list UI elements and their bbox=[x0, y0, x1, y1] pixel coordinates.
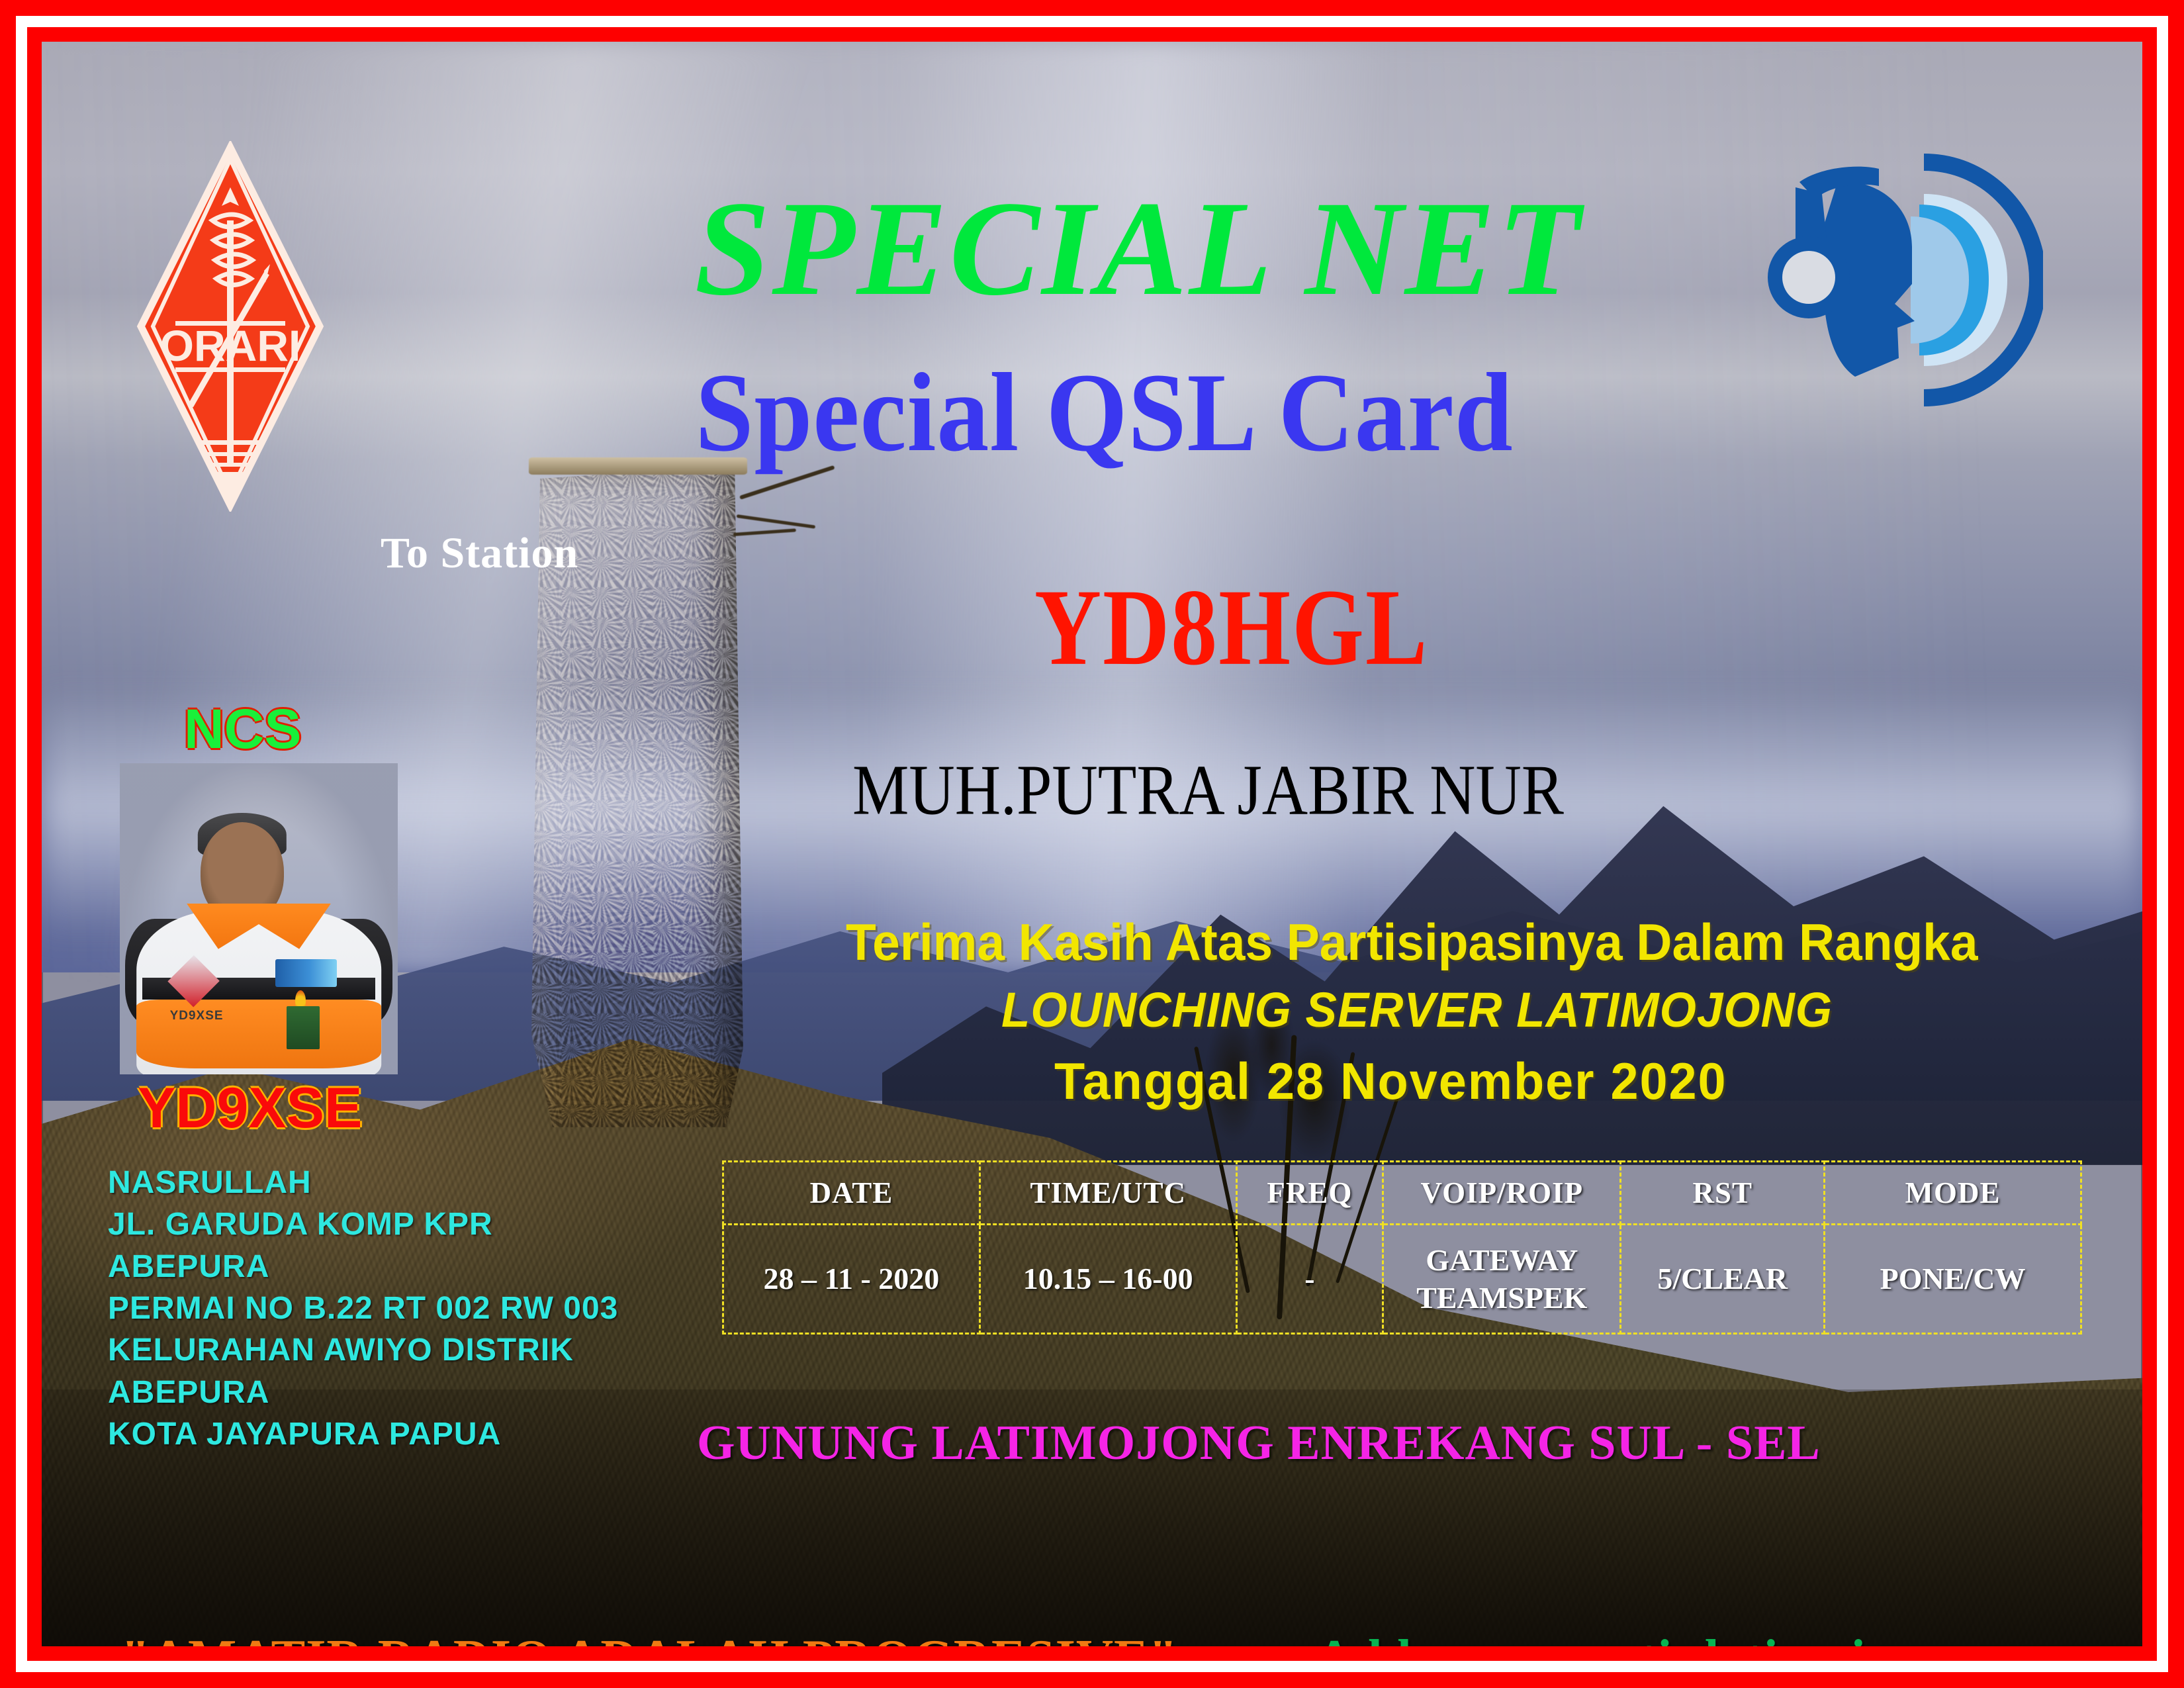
cell-time: 10.15 – 16-00 bbox=[979, 1225, 1236, 1334]
column-header-voip: VOIP/ROIP bbox=[1383, 1162, 1621, 1225]
column-header-mode: MODE bbox=[1825, 1162, 2081, 1225]
to-station-label: To Station bbox=[381, 528, 578, 579]
cell-freq: - bbox=[1236, 1225, 1383, 1334]
footer-motto: "AMATIR RADIO ADALAH PROGRESIVE" bbox=[121, 1629, 1178, 1646]
location-caption: GUNUNG LATIMOJONG ENREKANG SUL - SEL bbox=[697, 1415, 1821, 1472]
address-line: PERMAI NO B.22 RT 002 RW 003 bbox=[108, 1288, 618, 1329]
thanks-message: Terima Kasih Atas Partisipasinya Dalam R… bbox=[846, 912, 1978, 972]
page-title: SPECIAL NET bbox=[42, 181, 2142, 316]
address-line: NASRULLAH bbox=[108, 1162, 618, 1203]
ncs-operator-photo: YD9XSE bbox=[120, 763, 398, 1074]
cell-rst: 5/CLEAR bbox=[1621, 1225, 1825, 1334]
recipient-callsign: YD8HGL bbox=[1034, 565, 1428, 690]
operator-name: MUH.PUTRA JABIR NUR bbox=[852, 749, 1564, 831]
qsl-card-outer-border: ORARI bbox=[0, 0, 2184, 1688]
cell-voip-line-2: TEAMSPEK bbox=[1384, 1279, 1619, 1317]
cell-voip: GATEWAY TEAMSPEK bbox=[1383, 1225, 1621, 1334]
cell-date: 28 – 11 - 2020 bbox=[723, 1225, 980, 1334]
event-name: LOUNCHING SERVER LATIMOJONG bbox=[1001, 982, 1833, 1038]
ncs-label: NCS bbox=[184, 697, 301, 761]
qsl-card-inner-border: ORARI bbox=[27, 27, 2157, 1661]
photo-id-card bbox=[287, 1006, 320, 1050]
address-line: KOTA JAYAPURA PAPUA bbox=[108, 1413, 618, 1455]
address-line: JL. GARUDA KOMP KPR bbox=[108, 1203, 618, 1245]
cell-mode: PONE/CW bbox=[1825, 1225, 2081, 1334]
address-line: ABEPURA bbox=[108, 1372, 618, 1413]
photo-shirt-badge bbox=[275, 959, 336, 987]
address-line: ABEPURA bbox=[108, 1246, 618, 1288]
card-content-layer: ORARI bbox=[42, 42, 2142, 1646]
event-date: Tanggal 28 November 2020 bbox=[1054, 1051, 1727, 1111]
qso-details-table: DATE TIME/UTC FREQ VOIP/ROIP RST MODE 28… bbox=[722, 1160, 2082, 1335]
background-photo: ORARI bbox=[42, 42, 2142, 1646]
qsl-card-white-gap: ORARI bbox=[16, 16, 2168, 1672]
column-header-time: TIME/UTC bbox=[979, 1162, 1236, 1225]
photo-shirt-callsign: YD9XSE bbox=[170, 1009, 224, 1023]
cell-voip-line-1: GATEWAY bbox=[1384, 1241, 1619, 1280]
table-row: 28 – 11 - 2020 10.15 – 16-00 - GATEWAY T… bbox=[723, 1225, 2081, 1334]
address-line: KELURAHAN AWIYO DISTRIK bbox=[108, 1329, 618, 1371]
footer-website-address: Address : amatir.latimojong.com bbox=[1316, 1629, 2054, 1646]
column-header-freq: FREQ bbox=[1236, 1162, 1383, 1225]
column-header-rst: RST bbox=[1621, 1162, 1825, 1225]
sender-address-block: NASRULLAH JL. GARUDA KOMP KPR ABEPURA PE… bbox=[108, 1162, 618, 1456]
column-header-date: DATE bbox=[723, 1162, 980, 1225]
table-header-row: DATE TIME/UTC FREQ VOIP/ROIP RST MODE bbox=[723, 1162, 2081, 1225]
page-subtitle: Special QSL Card bbox=[115, 356, 2069, 469]
ncs-callsign: YD9XSE bbox=[138, 1076, 362, 1141]
